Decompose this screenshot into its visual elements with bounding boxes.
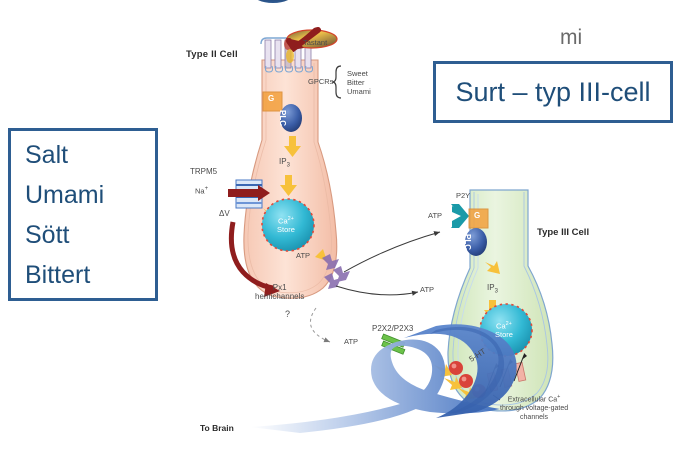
g-protein-label: G: [268, 95, 274, 104]
sodium-superscript: +: [205, 186, 209, 192]
ip3-text: IP: [279, 157, 287, 166]
sodium-text: Na: [195, 187, 205, 196]
px1-hemichannels-label: Px1 hemichannels: [255, 284, 304, 301]
taste-qualities-annotation-box[interactable]: Salt Umami Sött Bittert: [8, 128, 158, 301]
plc-3-label: PLC: [462, 234, 471, 250]
p2y-receptor-label: P2Y: [456, 192, 470, 200]
sour-type3-label: Surt – typ III-cell: [455, 77, 650, 108]
type3-calcium-store-label: Ca2+ Store: [495, 322, 513, 339]
type2-cell-label: Type II Cell: [186, 50, 238, 60]
store3-text: Store: [495, 330, 513, 339]
gpcrs-label: GPCRs: [308, 78, 333, 86]
nerve-fiber-to-brain: [250, 324, 517, 433]
ip3-3-text: IP: [487, 283, 495, 292]
atp-p2x-label: ATP: [344, 338, 358, 346]
atp-gap-label: ATP: [420, 286, 434, 294]
ip3-3-subscript: 3: [495, 289, 498, 295]
hemichannels-text: hemichannels: [255, 292, 304, 301]
p2y-receptor: [448, 204, 469, 228]
extracellular-line3: channels: [520, 414, 548, 421]
tastant-label: Tastant: [303, 39, 327, 47]
delta-v-label: ΔV: [219, 210, 230, 219]
gpcr-bitter-label: Bitter: [347, 79, 365, 87]
ca3-superscript: 2+: [506, 321, 512, 327]
extracellular-calcium-label: Extracellular Ca+ through voltage-gated …: [500, 394, 568, 423]
gpcr-sweet-label: Sweet: [347, 70, 368, 78]
g-protein-3-label: G: [474, 212, 480, 221]
p2x-receptor-label: P2X2/P2X3: [372, 325, 413, 334]
atp-vesicle-label: ATP: [296, 252, 310, 260]
ip3-label: IP3: [279, 158, 290, 169]
taste-quality-salt: Salt: [25, 135, 155, 175]
taste-quality-umami: Umami: [25, 175, 155, 215]
ca-superscript: 2+: [288, 216, 294, 222]
to-brain-label: To Brain: [200, 424, 234, 433]
type3-cell-label: Type III Cell: [537, 228, 589, 238]
atp-p2y-label: ATP: [428, 212, 442, 220]
unknown-marker-label: ?: [285, 310, 290, 320]
taste-quality-bittert: Bittert: [25, 255, 155, 295]
sodium-label: Na+: [195, 186, 208, 196]
trpm5-label: TRPM5: [190, 168, 217, 177]
gpcr-umami-label: Umami: [347, 88, 371, 96]
sour-type3-annotation-box[interactable]: Surt – typ III-cell: [433, 61, 673, 123]
ip3-subscript: 3: [287, 163, 290, 169]
mi-watermark: mi: [560, 26, 582, 50]
slide-canvas: Type II Cell Tastant GPCRs Sweet Bitter …: [0, 0, 690, 452]
extracellular-line1: Extracellular Ca: [508, 396, 557, 403]
taste-quality-sott: Sött: [25, 215, 155, 255]
plc-label: PLC: [277, 110, 286, 126]
extracellular-line2: through voltage-gated: [500, 405, 568, 412]
ip3-3-label: IP3: [487, 284, 498, 295]
type2-calcium-store-label: Ca2+ Store: [277, 217, 295, 234]
store-text: Store: [277, 225, 295, 234]
extracellular-superscript: +: [557, 394, 560, 400]
